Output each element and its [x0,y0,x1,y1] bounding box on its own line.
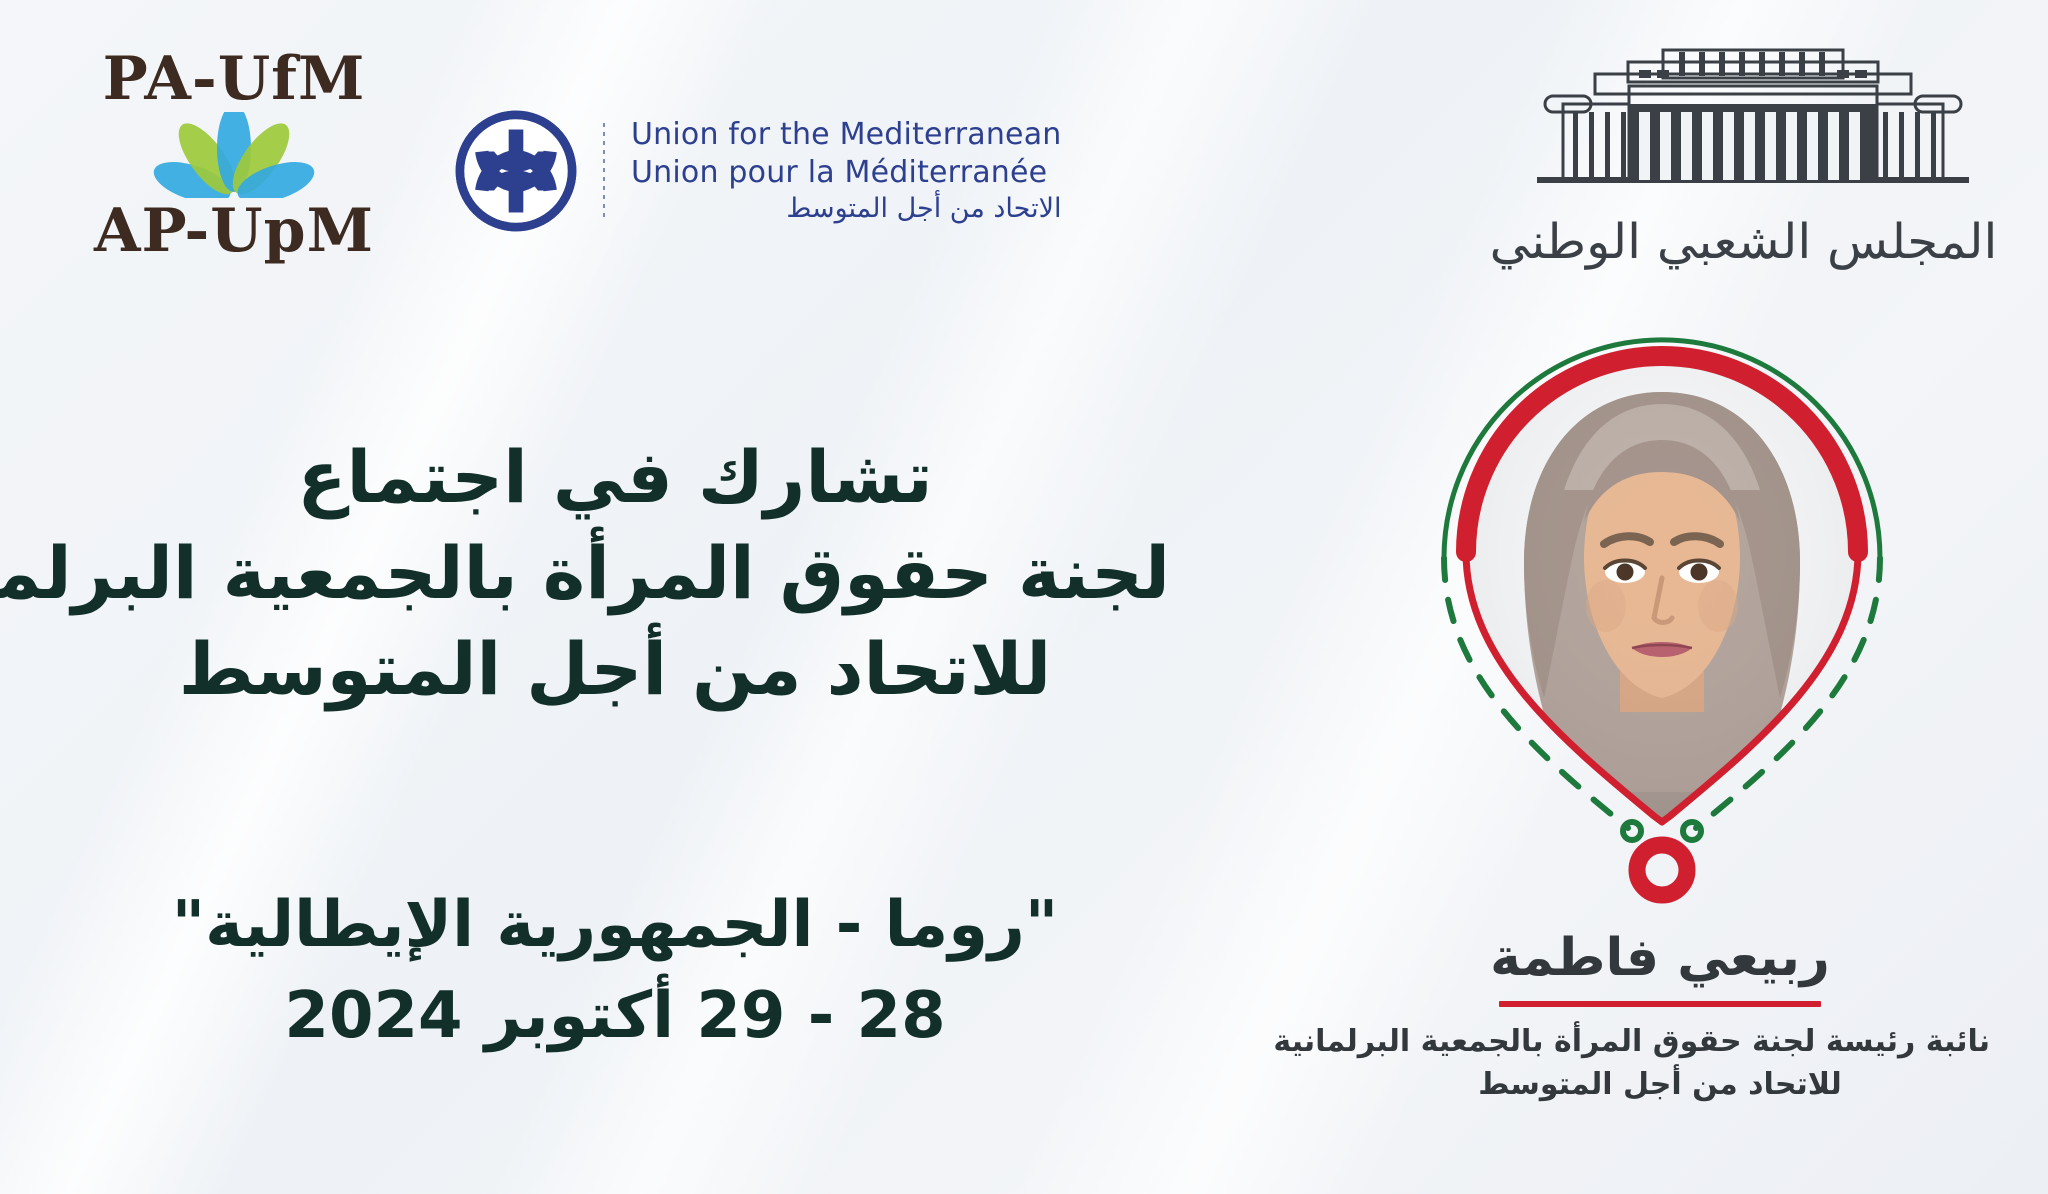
avatar [1382,300,1942,940]
pa-ufm-logo: PA-UfM AP-UpM [84,48,384,248]
ufm-circle-mark-icon [455,110,577,232]
pa-ufm-logo-bottom-text: AP-UpM [84,200,384,262]
event-venue-date: "روما - الجمهورية الإيطالية" 28 - 29 أكت… [60,880,1170,1062]
apn-logo: المجلس الشعبي الوطني [1518,30,1988,270]
headline-line-1: تشارك في اجتماع [60,430,1170,526]
parliament-building-icon [1533,30,1973,210]
apn-name-arabic: المجلس الشعبي الوطني [1509,214,1998,270]
pin-dot-icon [1637,845,1687,895]
speaker-photo [1466,356,1858,840]
pa-ufm-logo-top-text: PA-UfM [84,48,384,110]
ufm-logo-divider [603,123,605,219]
headline-line-2: لجنة حقوق المرأة بالجمعية البرلمانية [60,526,1170,622]
venue-location: "روما - الجمهورية الإيطالية" [60,880,1170,971]
poster-canvas: PA-UfM AP-UpM [0,0,2048,1194]
ufm-logo-text: Union for the Mediterranean Union pour l… [631,116,1062,226]
speaker-name: ربيعي فاطمة [1330,930,1990,987]
ufm-logo: Union for the Mediterranean Union pour l… [455,110,1062,232]
headline-line-3: للاتحاد من أجل المتوسط [60,622,1170,718]
page-title: تشارك في اجتماع لجنة حقوق المرأة بالجمعي… [60,430,1170,717]
ufm-name-french: Union pour la Méditerranée [631,154,1062,192]
ufm-name-english: Union for the Mediterranean [631,116,1062,154]
ufm-name-arabic: الاتحاد من أجل المتوسط [631,192,1062,226]
fan-petals-icon [84,112,384,198]
speaker-title-line-2: للاتحاد من أجل المتوسط [1330,1064,1990,1107]
venue-dates: 28 - 29 أكتوبر 2024 [60,971,1170,1062]
speaker-title: نائبة رئيسة لجنة حقوق المرأة بالجمعية ال… [1330,1021,1990,1106]
speaker-divider [1499,1001,1821,1007]
speaker-block: ربيعي فاطمة نائبة رئيسة لجنة حقوق المرأة… [1330,930,1990,1106]
speaker-title-line-1: نائبة رئيسة لجنة حقوق المرأة بالجمعية ال… [1330,1021,1990,1064]
